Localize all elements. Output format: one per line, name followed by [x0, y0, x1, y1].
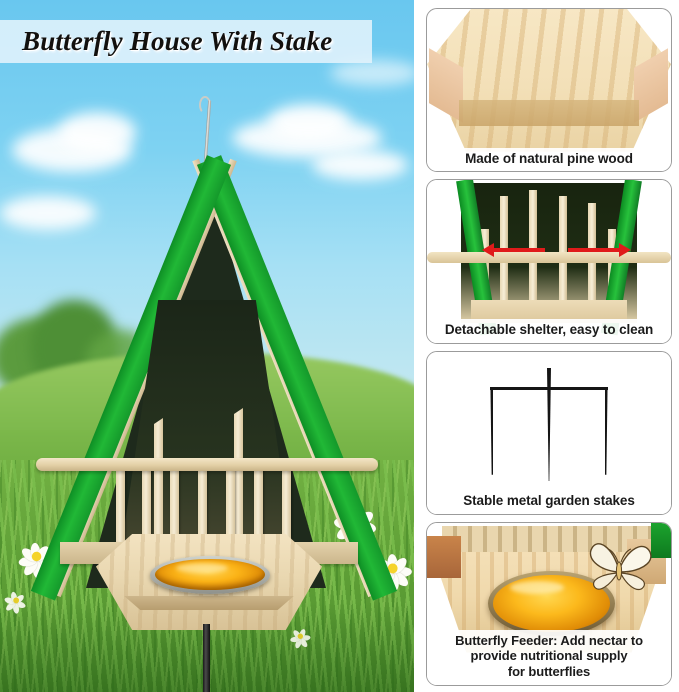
page-title: Butterfly House With Stake: [0, 26, 333, 57]
stake-crossbar-right: [547, 387, 608, 390]
panel-metal-stakes: Stable metal garden stakes: [426, 351, 672, 515]
title-banner: Butterfly House With Stake: [0, 20, 372, 63]
caption-line: Butterfly Feeder: Add nectar to: [431, 633, 667, 648]
metal-stake-pole: [203, 624, 210, 692]
panel-caption: Detachable shelter, easy to clean: [427, 319, 671, 343]
butterfly-icon: [582, 536, 656, 600]
shelter-rail-rod: [427, 252, 671, 263]
board-front-edge: [459, 100, 640, 126]
panel-caption: Stable metal garden stakes: [427, 490, 671, 514]
caption-line: Made of natural pine wood: [431, 151, 667, 167]
caption-line: Detachable shelter, easy to clean: [431, 322, 667, 338]
panel-caption: Made of natural pine wood: [427, 148, 671, 172]
panel-detachable-shelter: Detachable shelter, easy to clean: [426, 179, 672, 343]
stake-crossbar-left: [490, 387, 551, 390]
arrow-left-icon: [493, 248, 545, 252]
butterfly-house: [0, 0, 414, 692]
nectar-highlight: [176, 563, 228, 573]
panel-pine-wood: Made of natural pine wood: [426, 8, 672, 172]
perch-rod: [36, 458, 378, 471]
feeder-side-left: [427, 536, 461, 578]
panel-butterfly-feeder: Butterfly Feeder: Add nectar to provide …: [426, 522, 672, 686]
feature-panel-column: Made of natural pine wood Detachable she…: [420, 0, 679, 692]
nectar-highlight: [510, 581, 564, 594]
arrow-right-icon: [568, 248, 620, 252]
panel-caption: Butterfly Feeder: Add nectar to provide …: [427, 630, 671, 685]
feeder-base-edge: [108, 596, 310, 610]
caption-line: Stable metal garden stakes: [431, 493, 667, 509]
main-product-photo: Butterfly House With Stake: [0, 0, 414, 692]
caption-line: provide nutritional supply: [431, 648, 667, 663]
caption-line: for butterflies: [431, 664, 667, 679]
